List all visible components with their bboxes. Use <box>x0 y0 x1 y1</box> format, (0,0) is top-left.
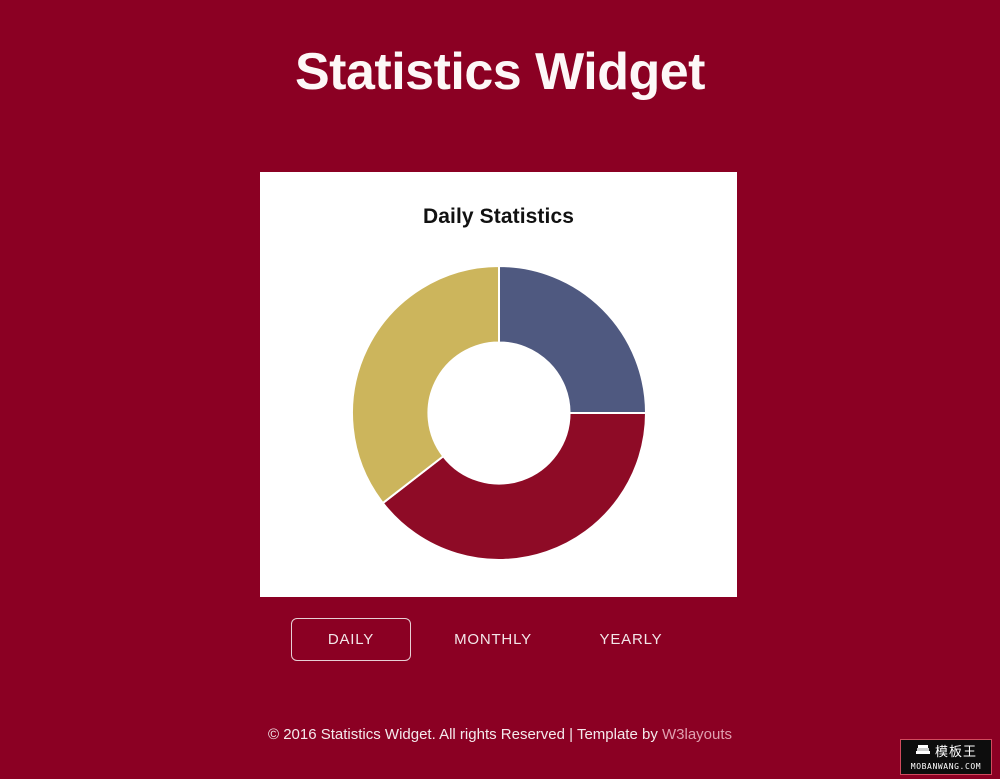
donut-slice-series-3[interactable] <box>352 266 499 503</box>
tab-yearly[interactable]: YEARLY <box>571 618 691 661</box>
donut-chart <box>349 263 649 563</box>
page-title: Statistics Widget <box>0 0 1000 101</box>
watermark-badge: 模板王 MOBANWANG.COM <box>900 739 992 775</box>
footer: © 2016 Statistics Widget. All rights Res… <box>0 726 1000 743</box>
period-tabs: DAILY MONTHLY YEARLY <box>260 618 737 661</box>
tab-daily[interactable]: DAILY <box>291 618 411 661</box>
watermark-row: 模板王 <box>915 743 977 761</box>
books-stack-icon <box>915 743 931 762</box>
card-title: Daily Statistics <box>260 172 737 229</box>
footer-text: © 2016 Statistics Widget. All rights Res… <box>268 726 662 743</box>
watermark-url-label: MOBANWANG.COM <box>911 763 981 771</box>
donut-slices <box>352 266 646 560</box>
footer-link-w3layouts[interactable]: W3layouts <box>662 726 732 743</box>
tab-monthly[interactable]: MONTHLY <box>433 618 553 661</box>
donut-chart-svg <box>349 263 649 563</box>
watermark-cjk-label: 模板王 <box>935 746 977 759</box>
statistics-card: Daily Statistics <box>260 172 737 597</box>
donut-slice-series-1[interactable] <box>499 266 646 413</box>
